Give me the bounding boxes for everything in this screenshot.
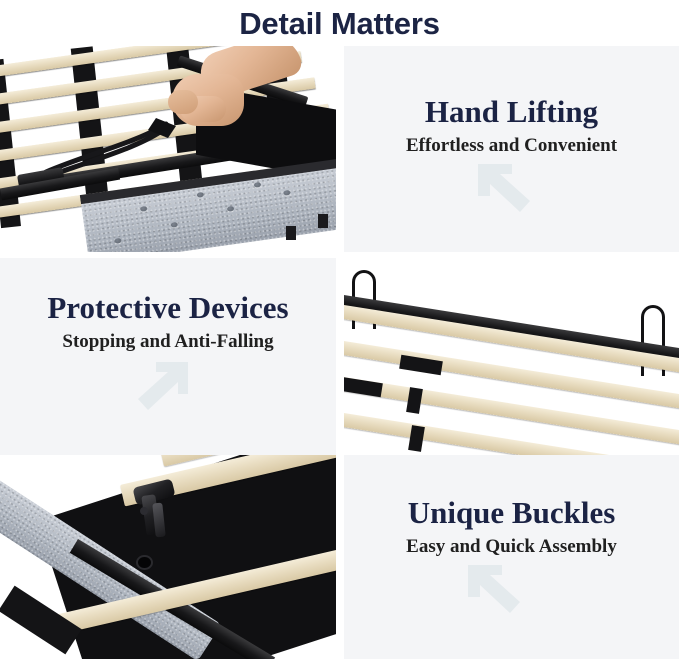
protective-devices-photo-panel xyxy=(344,258,679,460)
page-title-bar: Detail Matters xyxy=(0,0,679,46)
panel-grid: Hand Lifting Effortless and Convenient P… xyxy=(0,46,679,659)
hand-lifting-text-panel: Hand Lifting Effortless and Convenient xyxy=(344,46,679,252)
product-detail-infographic: Detail Matters xyxy=(0,0,679,659)
slat-group xyxy=(344,322,679,460)
hand-lifting-headline: Hand Lifting xyxy=(344,96,679,129)
arrow-up-right-icon xyxy=(128,354,194,416)
hand-lifting-subline: Effortless and Convenient xyxy=(344,136,679,156)
arrow-up-left-icon xyxy=(472,156,538,218)
unique-buckles-subline: Easy and Quick Assembly xyxy=(344,537,679,557)
unique-buckles-headline: Unique Buckles xyxy=(344,497,679,530)
unique-buckles-photo xyxy=(0,455,336,659)
hand-lifting-photo-panel xyxy=(0,46,336,252)
unique-buckles-photo-panel xyxy=(0,455,336,659)
screw-hole xyxy=(138,557,151,568)
protective-devices-text-panel: Protective Devices Stopping and Anti-Fal… xyxy=(0,258,336,460)
protective-devices-photo xyxy=(344,258,679,460)
base-leg xyxy=(318,214,328,228)
hand-lifting-photo xyxy=(0,46,336,252)
buckle xyxy=(128,481,198,547)
base-leg xyxy=(286,226,296,240)
protective-devices-subline: Stopping and Anti-Falling xyxy=(0,332,336,352)
hand xyxy=(160,52,290,147)
page-title: Detail Matters xyxy=(239,8,440,39)
protective-devices-headline: Protective Devices xyxy=(0,292,336,325)
arrow-up-left-icon xyxy=(462,557,528,619)
unique-buckles-text-panel: Unique Buckles Easy and Quick Assembly xyxy=(344,455,679,659)
